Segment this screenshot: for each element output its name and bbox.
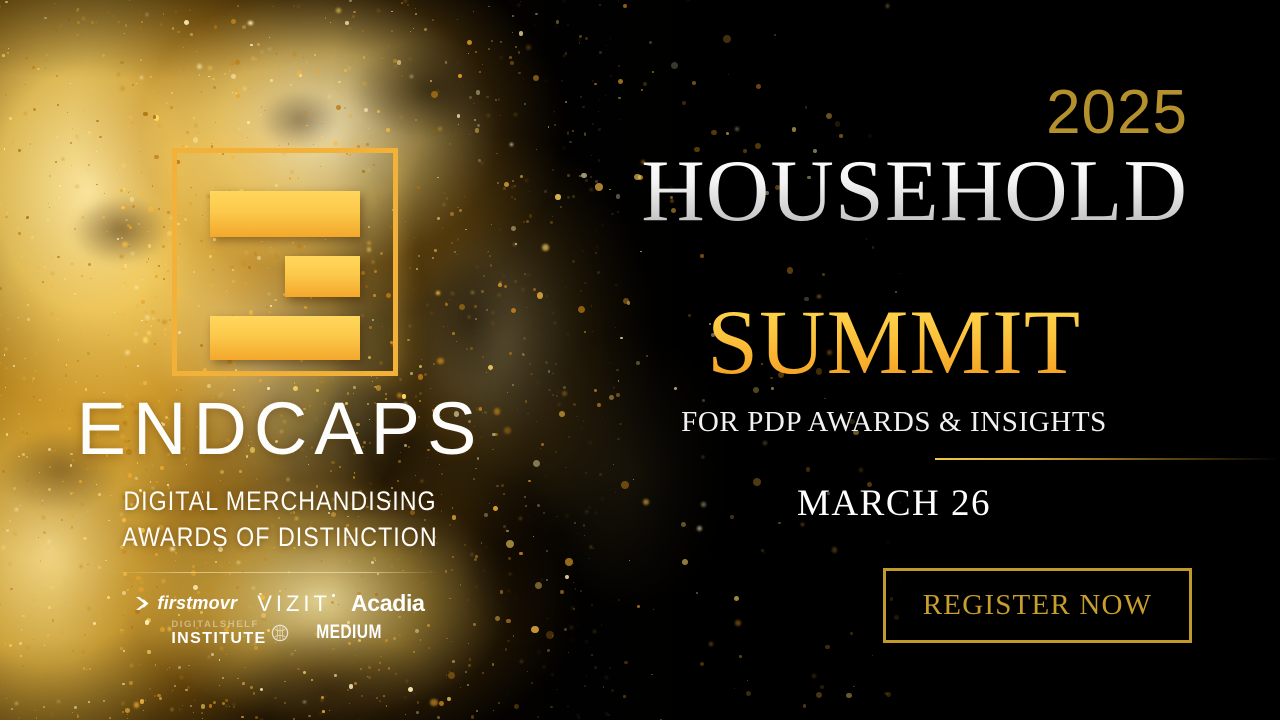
acadia-label: Acadia xyxy=(351,590,425,616)
firstmovr-label: firstmovr xyxy=(157,593,237,614)
mark-bar-middle xyxy=(285,256,360,297)
endcaps-tagline: DIGITAL MERCHANDISING AWARDS OF DISTINCT… xyxy=(39,484,521,555)
endcaps-brand-lockup: ENDCAPS DIGITAL MERCHANDISING AWARDS OF … xyxy=(0,0,560,720)
event-detail-block: 2025 HOUSEHOLD SUMMIT FOR PDP AWARDS & I… xyxy=(600,0,1280,720)
endcaps-wordmark: ENDCAPS xyxy=(0,392,560,466)
gold-divider xyxy=(935,458,1280,460)
partner-logo-group: firstmovr VIZIT Acadia DIGITALSHELF INST… xyxy=(0,590,560,647)
event-descriptor: FOR PDP AWARDS & INSIGHTS xyxy=(600,406,1188,439)
partner-logo-digitalshelf-institute[interactable]: DIGITALSHELF INSTITUTE xyxy=(171,620,288,647)
vizit-dot-icon xyxy=(332,594,335,597)
lockup-divider xyxy=(112,572,440,573)
partner-row-2: DIGITALSHELF INSTITUTE MEDIUM xyxy=(171,620,388,647)
partner-logo-medium[interactable]: MEDIUM xyxy=(316,622,382,644)
partner-logo-acadia[interactable]: Acadia xyxy=(351,590,425,617)
endcaps-e-mark-icon xyxy=(172,148,398,376)
mark-bar-top xyxy=(210,191,360,237)
register-now-label: REGISTER NOW xyxy=(923,589,1152,622)
dsi-label-small: DIGITALSHELF xyxy=(171,620,259,630)
partner-logo-firstmovr[interactable]: firstmovr xyxy=(135,593,237,614)
tagline-line-2: AWARDS OF DISTINCTION xyxy=(39,520,521,556)
vizit-label: VIZIT xyxy=(257,591,331,616)
chevron-arrow-icon xyxy=(135,596,151,611)
medium-label: MEDIUM xyxy=(316,622,382,643)
partner-row-1: firstmovr VIZIT Acadia xyxy=(135,590,424,617)
register-now-button[interactable]: REGISTER NOW xyxy=(883,568,1192,643)
partner-logo-vizit[interactable]: VIZIT xyxy=(257,591,331,617)
event-subtitle: SUMMIT xyxy=(600,296,1188,388)
mark-bar-bottom xyxy=(210,316,360,360)
dsi-label-big: INSTITUTE xyxy=(171,631,266,647)
event-banner: ENDCAPS DIGITAL MERCHANDISING AWARDS OF … xyxy=(0,0,1280,720)
event-year: 2025 xyxy=(1046,82,1188,144)
event-date: MARCH 26 xyxy=(600,482,1188,525)
event-title: HOUSEHOLD xyxy=(600,148,1188,236)
dsi-text-stack: DIGITALSHELF INSTITUTE xyxy=(171,620,266,647)
tagline-line-1: DIGITAL MERCHANDISING xyxy=(39,484,521,520)
brain-icon xyxy=(271,624,289,642)
